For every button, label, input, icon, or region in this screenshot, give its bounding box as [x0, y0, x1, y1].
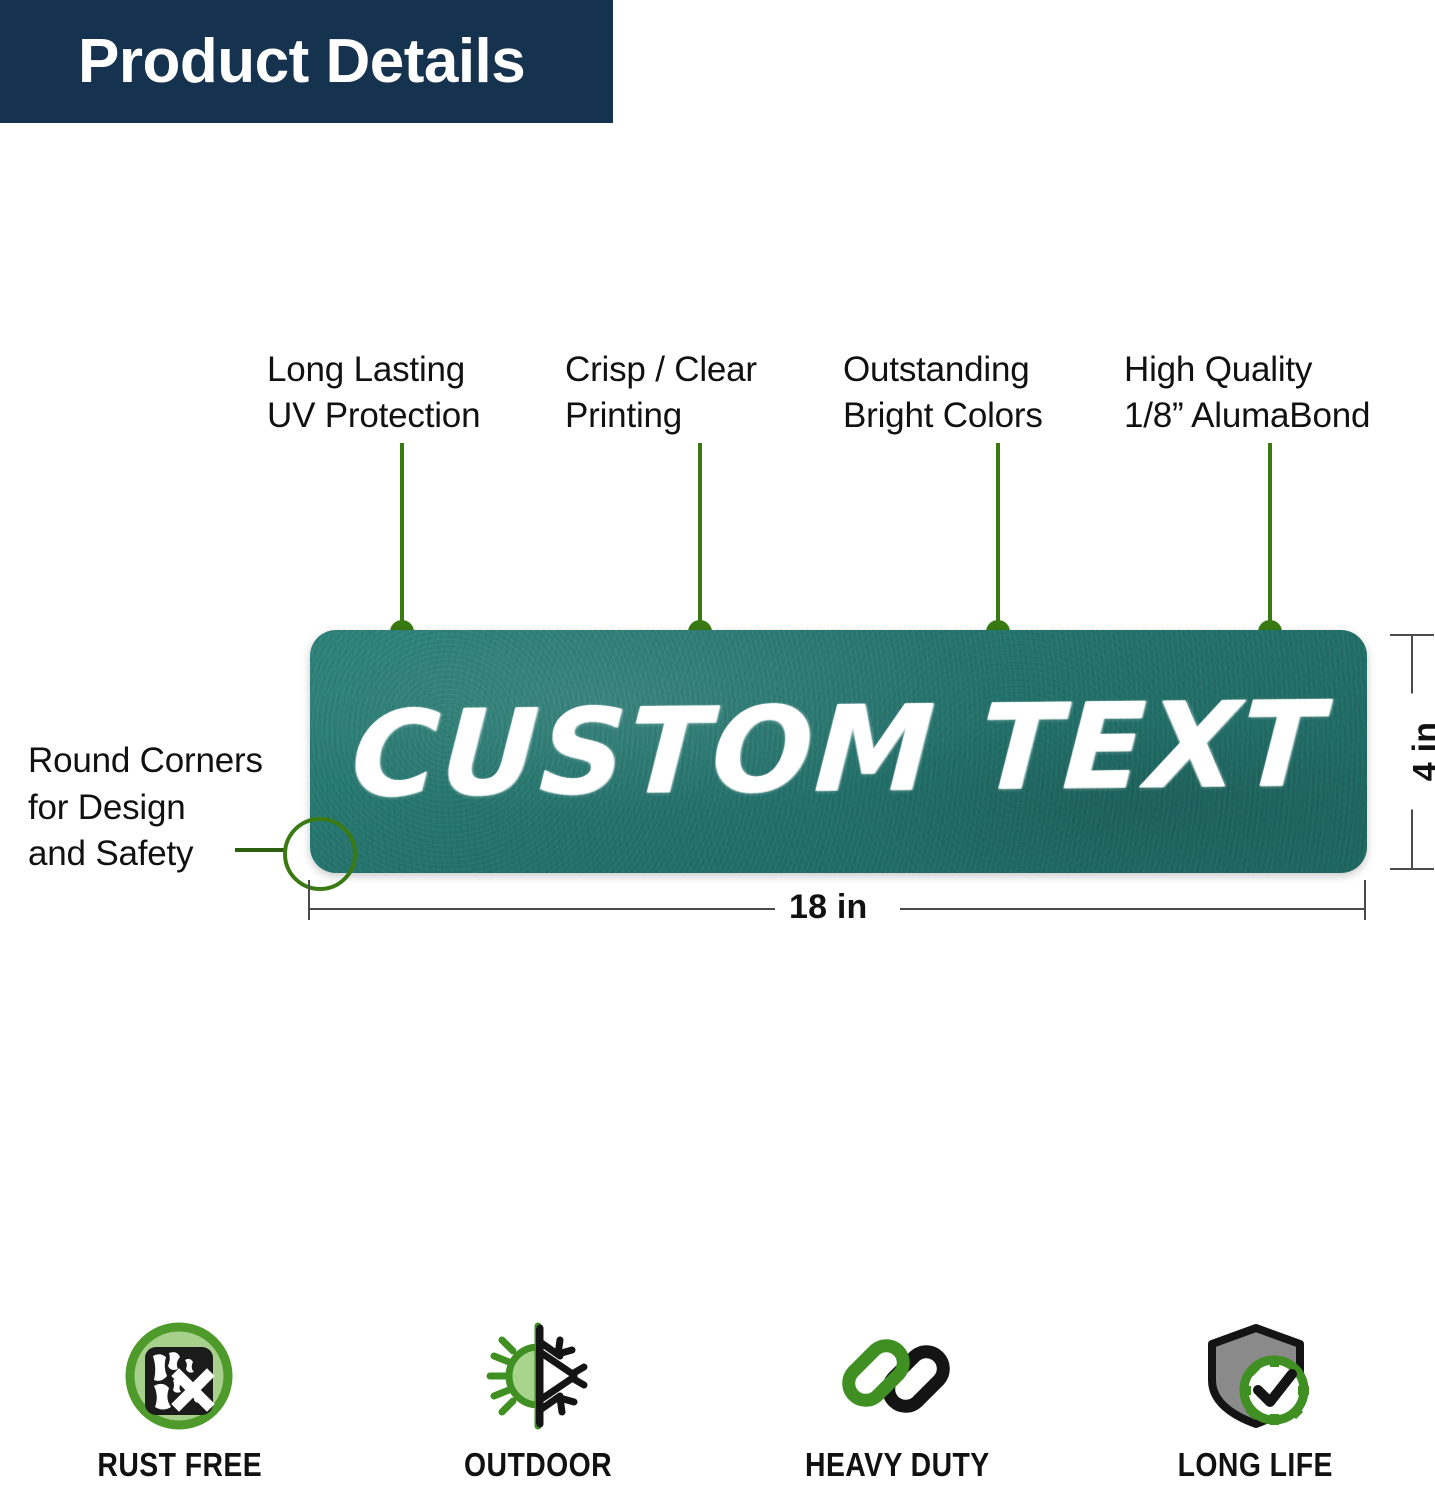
dim-label-height: 4 in: [1407, 694, 1435, 810]
feature-badges: RUST FREE: [0, 1320, 1435, 1500]
dim-line-height-upper: [1411, 634, 1413, 700]
callout-label-bright-colors: Outstanding Bright Colors: [843, 347, 1043, 439]
dim-tick-width-right: [1364, 880, 1366, 920]
leader-line-round-corners: [235, 848, 287, 852]
round-corner-highlight-circle: [283, 817, 357, 891]
callout-label-crisp-printing: Crisp / Clear Printing: [565, 347, 757, 439]
callout-label-round-corners: Round Corners for Design and Safety: [28, 738, 263, 878]
long-life-icon: [1200, 1320, 1312, 1432]
feature-outdoor: OUTDOOR: [359, 1320, 718, 1484]
header-banner: Product Details: [0, 0, 613, 123]
product-details-infographic: Product Details Long Lasting UV Protecti…: [0, 0, 1435, 1500]
outdoor-icon: [482, 1320, 594, 1432]
dim-line-width-left: [308, 908, 778, 910]
rust-free-icon: [123, 1320, 235, 1432]
feature-label-outdoor: OUTDOOR: [464, 1446, 612, 1484]
feature-label-long-life: LONG LIFE: [1178, 1446, 1333, 1484]
feature-rust-free: RUST FREE: [0, 1320, 359, 1484]
feature-label-heavy-duty: HEAVY DUTY: [805, 1446, 990, 1484]
feature-heavy-duty: HEAVY DUTY: [718, 1320, 1077, 1484]
feature-long-life: LONG LIFE: [1076, 1320, 1435, 1484]
leader-line-uv-protection: [400, 443, 404, 638]
sign-custom-text: CUSTOM TEXT: [310, 630, 1367, 873]
product-sign: CUSTOM TEXT: [310, 630, 1367, 873]
callout-label-uv-protection: Long Lasting UV Protection: [267, 347, 480, 439]
callout-label-alumabond: High Quality 1/8” AlumaBond: [1124, 347, 1370, 439]
dim-tick-width-left: [308, 880, 310, 920]
heavy-duty-icon: [841, 1320, 953, 1432]
feature-label-rust-free: RUST FREE: [97, 1446, 262, 1484]
dim-label-width: 18 in: [775, 888, 881, 927]
page-title: Product Details: [0, 31, 525, 93]
leader-line-bright-colors: [996, 443, 1000, 638]
leader-line-crisp-printing: [698, 443, 702, 638]
dim-line-height-lower: [1411, 806, 1413, 870]
leader-line-alumabond: [1268, 443, 1272, 638]
dim-line-width-right: [900, 908, 1366, 910]
